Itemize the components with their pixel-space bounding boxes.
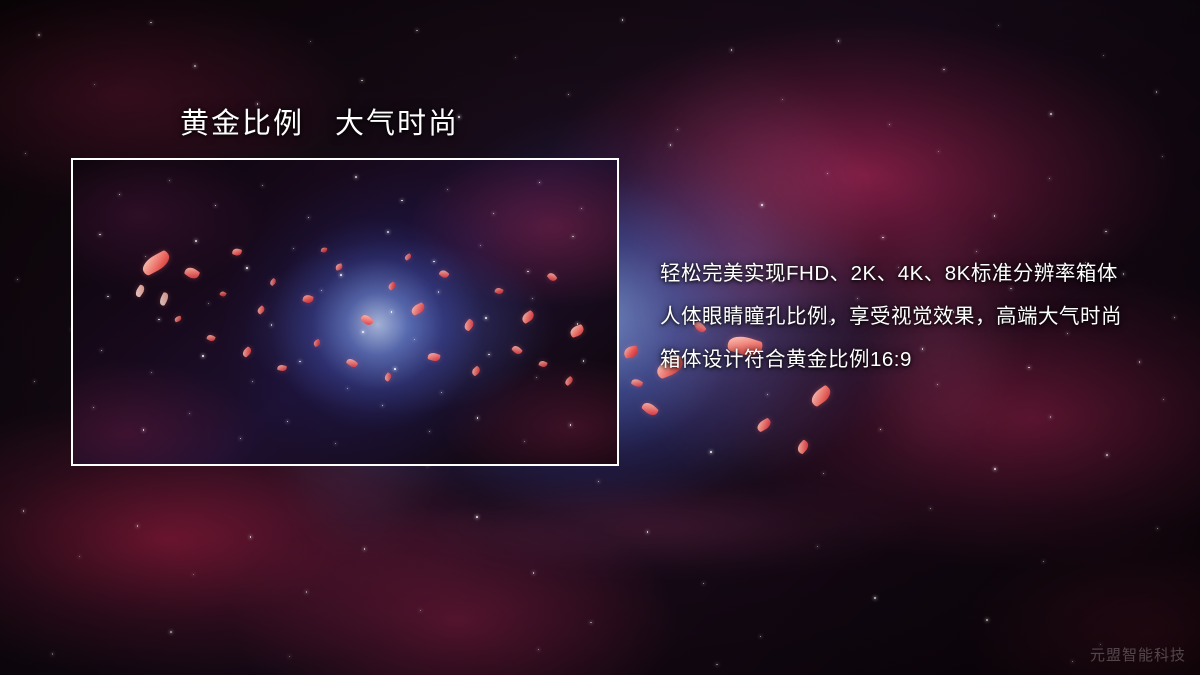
flower-petal <box>564 376 575 386</box>
frame-petal-layer <box>73 160 617 464</box>
flower-petal <box>494 287 504 296</box>
feature-line-1: 轻松完美实现FHD、2K、4K、8K标准分辨率箱体 <box>660 252 1160 295</box>
flower-petal <box>312 338 321 347</box>
flower-petal <box>538 360 548 369</box>
flower-petal <box>346 357 359 369</box>
flower-petal <box>641 400 660 418</box>
flower-petal <box>256 305 266 315</box>
feature-line-3: 箱体设计符合黄金比例16:9 <box>660 338 1160 381</box>
flower-petal <box>174 316 182 323</box>
flower-petal <box>427 351 441 363</box>
flower-petal <box>383 372 393 382</box>
feature-line-2: 人体眼睛瞳孔比例，享受视觉效果，高端大气时尚 <box>660 295 1160 338</box>
flower-petal <box>360 313 374 327</box>
flower-petal <box>321 247 328 253</box>
flower-petal <box>795 439 810 455</box>
flower-petal <box>183 265 200 281</box>
flower-petal <box>219 291 227 298</box>
flower-petal <box>302 294 314 305</box>
flower-petal <box>240 346 252 358</box>
flower-petal <box>470 366 481 377</box>
flower-petal <box>569 324 586 338</box>
slide-canvas: 黄金比例 大气时尚 轻松完美实现FHD、2K、4K、8K标准分辨率箱体 人体眼睛… <box>0 0 1200 675</box>
flower-petal <box>387 281 397 291</box>
flower-petal <box>139 249 173 276</box>
flower-petal <box>231 248 242 257</box>
flower-petal <box>756 417 773 432</box>
flower-petal <box>547 271 558 282</box>
flower-petal <box>808 385 833 408</box>
flower-petal <box>462 318 475 332</box>
flower-petal <box>438 269 449 280</box>
flower-petal <box>277 364 287 372</box>
flower-petal <box>631 378 644 389</box>
page-title: 黄金比例 大气时尚 <box>180 100 459 142</box>
flower-petal <box>335 263 343 271</box>
flower-petal <box>511 344 523 356</box>
flower-petal <box>623 345 639 358</box>
feature-description-block: 轻松完美实现FHD、2K、4K、8K标准分辨率箱体 人体眼睛瞳孔比例，享受视觉效… <box>660 252 1160 381</box>
flower-petal <box>269 278 277 286</box>
brand-watermark: 元盟智能科技 <box>1090 644 1186 665</box>
flower-petal <box>520 310 536 325</box>
display-frame-16-9 <box>71 158 619 466</box>
flower-petal <box>403 253 412 261</box>
flower-petal <box>134 284 147 298</box>
flower-petal <box>410 302 426 316</box>
flower-petal <box>158 291 170 306</box>
flower-petal <box>206 334 216 343</box>
